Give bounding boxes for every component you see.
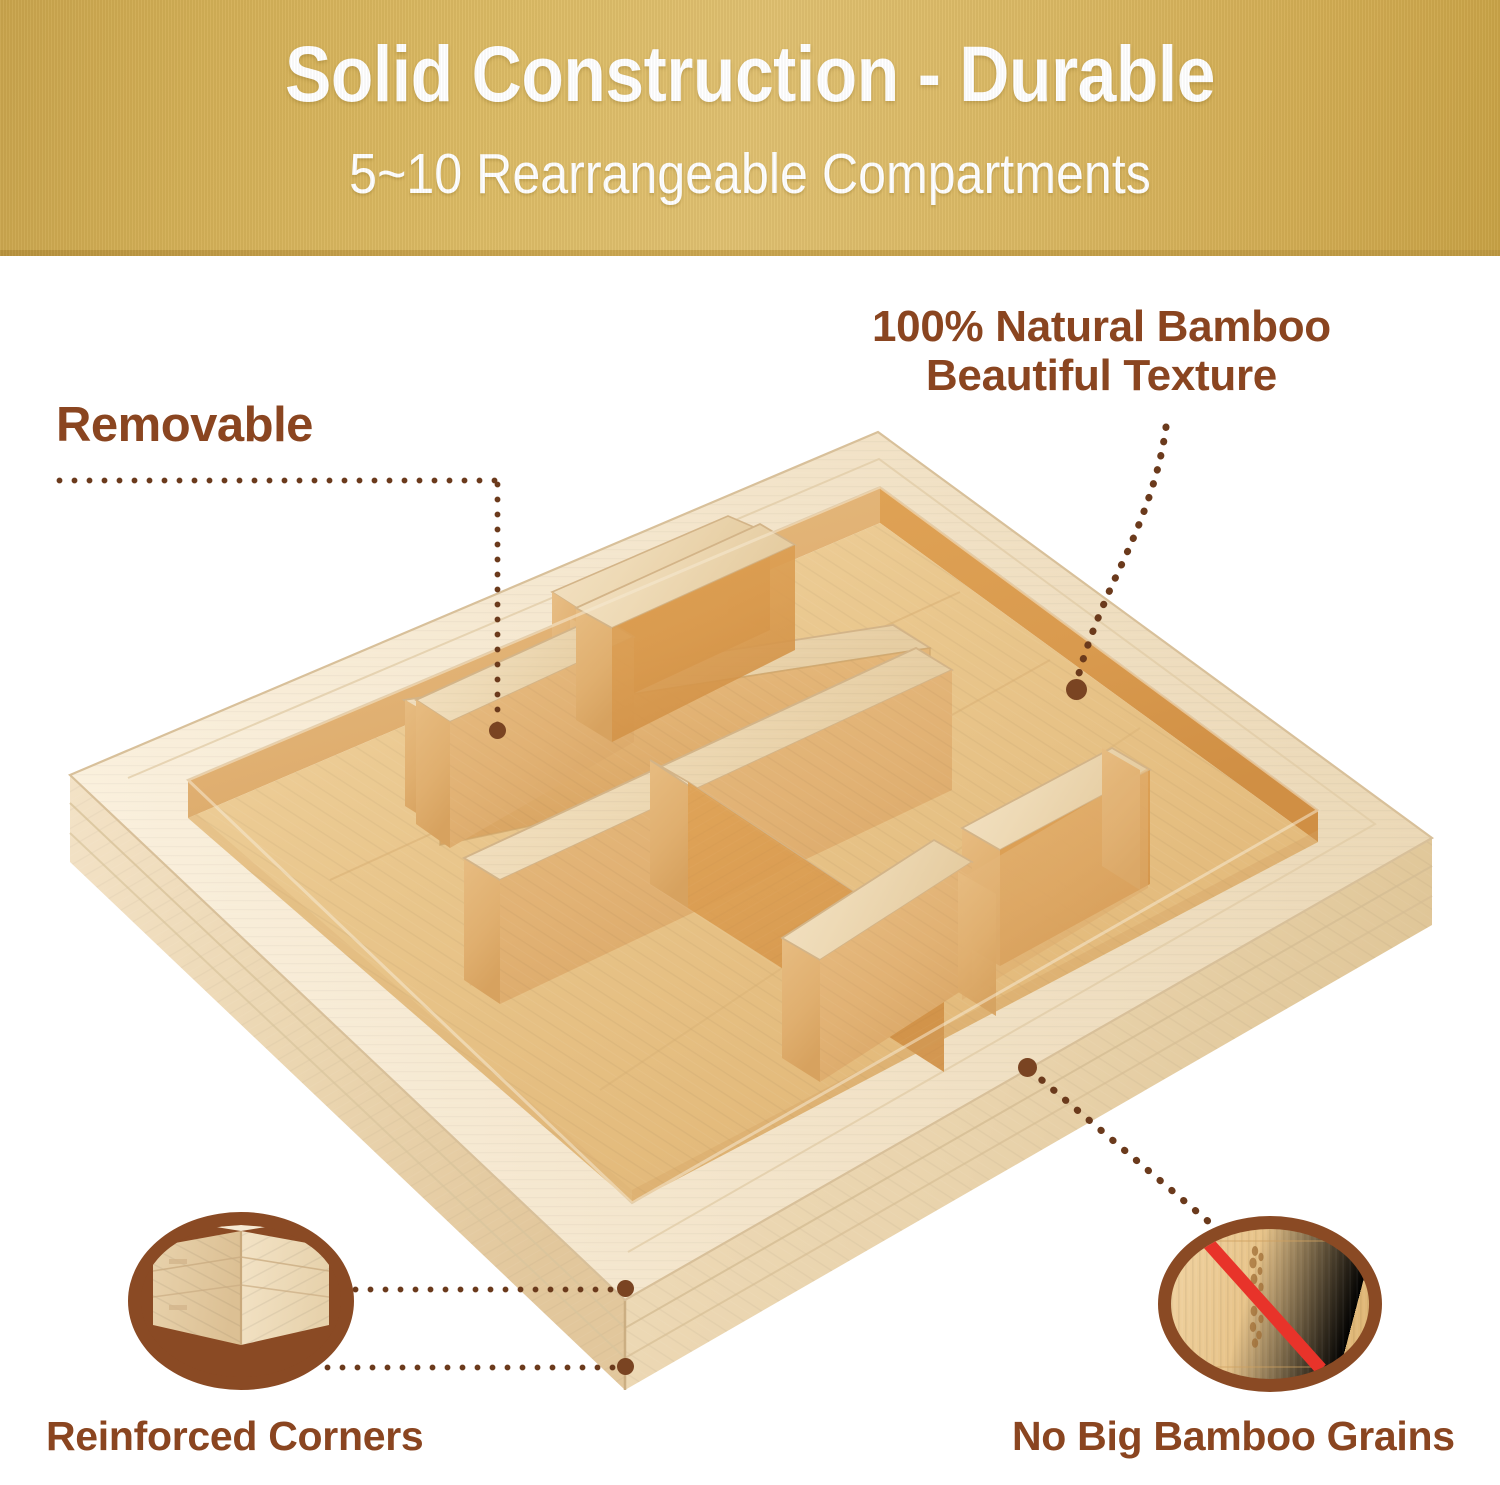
leader-endpoint-corner-upper xyxy=(617,1280,634,1297)
detail-bubble-reinforced-corner xyxy=(128,1212,354,1390)
callout-removable-label: Removable xyxy=(56,398,313,453)
callout-natural-bamboo-line2: Beautiful Texture xyxy=(872,351,1331,400)
leader-endpoint-removable xyxy=(489,722,506,739)
product-infographic: Solid Construction - Durable 5~10 Rearra… xyxy=(0,0,1500,1485)
bamboo-grain-photo xyxy=(1171,1229,1369,1379)
leader-line-natural-bamboo xyxy=(1040,415,1220,705)
leader-line-no-big-grains xyxy=(1020,1060,1250,1240)
callout-reinforced-corners-label: Reinforced Corners xyxy=(46,1414,423,1460)
detail-bubble-no-big-grains xyxy=(1158,1216,1382,1392)
leader-line-removable-horizontal xyxy=(52,477,498,484)
leader-endpoint-no-big-grains xyxy=(1018,1058,1037,1077)
leader-line-corner-lower xyxy=(320,1364,625,1371)
callout-natural-bamboo-line1: 100% Natural Bamboo xyxy=(872,302,1331,351)
leader-endpoint-corner-lower xyxy=(617,1358,634,1375)
leader-endpoint-natural-bamboo xyxy=(1066,679,1087,700)
corner-joint-photo xyxy=(141,1225,341,1377)
leader-line-corner-upper xyxy=(333,1286,625,1293)
leader-line-removable-vertical xyxy=(494,477,501,730)
callout-natural-bamboo-label: 100% Natural Bamboo Beautiful Texture xyxy=(872,302,1331,401)
callout-no-big-grains-label: No Big Bamboo Grains xyxy=(1012,1414,1455,1460)
